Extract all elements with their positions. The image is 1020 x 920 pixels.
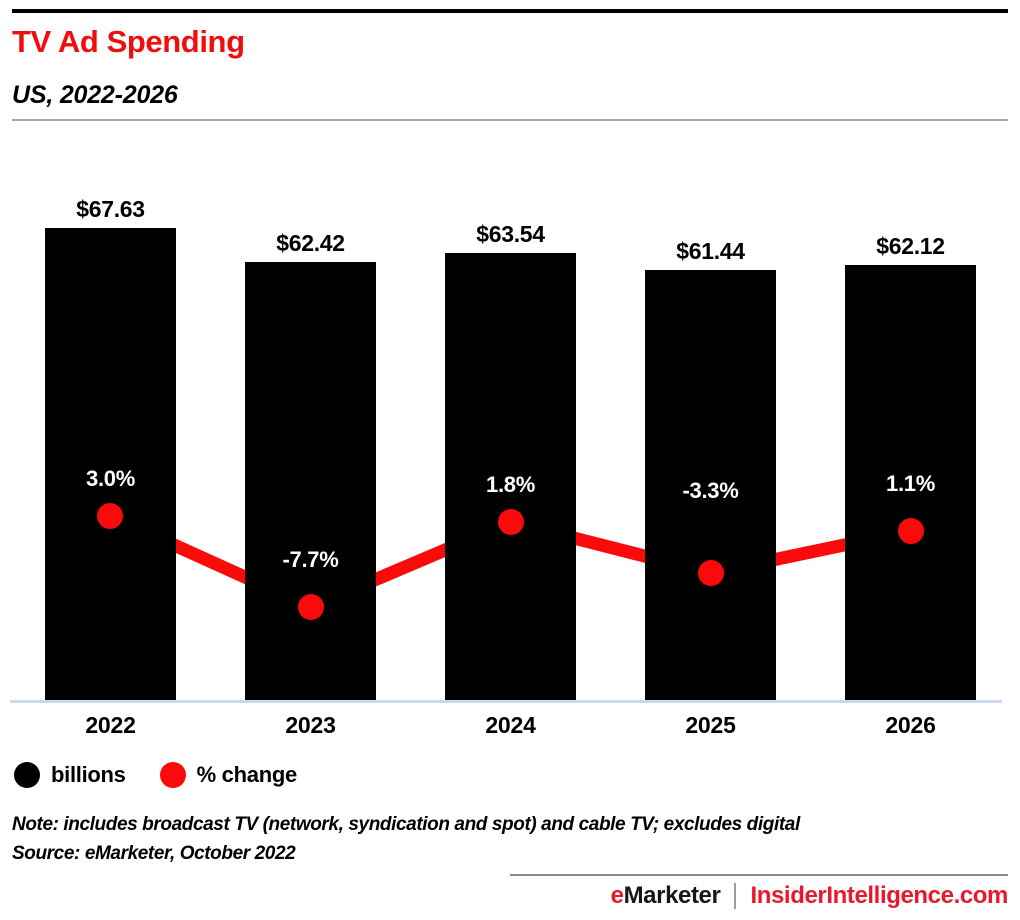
chart-page: TV Ad Spending US, 2022-2026 $67.63$62.4… [0,0,1020,920]
brand-emarketer-e: e [611,882,624,909]
x-axis-tick-2026: 2026 [845,712,976,739]
x-axis-tick-2023: 2023 [245,712,376,739]
footnote-note: Note: includes broadcast TV (network, sy… [12,814,800,836]
percent-label-2025: -3.3% [645,478,776,504]
x-axis-tick-2022: 2022 [45,712,176,739]
x-axis-tick-2025: 2025 [645,712,776,739]
brand-emarketer-rest: Marketer [624,882,721,909]
circle-icon [160,762,186,788]
percent-label-2023: -7.7% [245,547,376,573]
footer-rule [510,874,1008,876]
percent-label-2022: 3.0% [45,466,176,492]
brand-website[interactable]: InsiderIntelligence.com [750,882,1008,910]
brand-divider-icon [734,883,736,909]
line-marker-2024 [498,509,524,535]
bar-2025 [645,270,776,701]
bar-value-label-2025: $61.44 [645,238,776,265]
brand-emarketer: eMarketer [611,882,721,910]
footnote-source: Source: eMarketer, October 2022 [12,843,295,865]
legend-label-percent-change: % change [197,762,297,788]
page-subtitle: US, 2022-2026 [12,80,178,110]
percent-label-2026: 1.1% [845,471,976,497]
header-top-rule [12,9,1008,13]
percent-change-polyline [110,516,911,607]
bar-2026 [845,265,976,701]
bar-2023 [245,262,376,701]
brand-bar: eMarketer InsiderIntelligence.com [611,882,1008,910]
legend-item-billions[interactable]: billions [14,762,126,788]
line-marker-2025 [698,560,724,586]
circle-icon [14,762,40,788]
percent-label-2024: 1.8% [445,472,576,498]
header-bottom-rule [12,119,1008,121]
x-axis-line [10,700,1002,703]
page-title: TV Ad Spending [12,24,245,60]
chart-legend: billions % change [14,762,297,788]
bar-value-label-2024: $63.54 [445,221,576,248]
bar-value-label-2022: $67.63 [45,196,176,223]
bar-2022 [45,228,176,701]
line-marker-2026 [898,518,924,544]
legend-item-percent-change[interactable]: % change [160,762,297,788]
bar-2024 [445,253,576,701]
bar-value-label-2023: $62.42 [245,230,376,257]
line-marker-2023 [298,594,324,620]
legend-label-billions: billions [51,762,126,788]
bar-value-label-2026: $62.12 [845,233,976,260]
x-axis-tick-2024: 2024 [445,712,576,739]
line-marker-2022 [97,503,123,529]
